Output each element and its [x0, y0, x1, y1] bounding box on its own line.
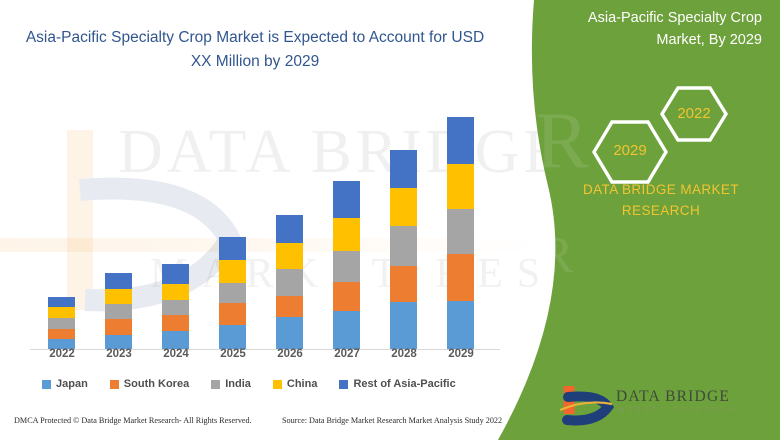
segment-china-2025[interactable] — [219, 260, 246, 283]
x-label-2029: 2029 — [441, 348, 481, 360]
green-side-panel: BR SR Asia-Pacific Specialty Crop Market… — [490, 0, 780, 440]
footer-source: Source: Data Bridge Market Research Mark… — [282, 416, 502, 425]
segment-rest-of-asia-pacific-2023[interactable] — [105, 273, 132, 289]
panel-brand-line-2: RESEARCH — [546, 201, 776, 222]
segment-south-korea-2028[interactable] — [390, 266, 417, 302]
legend-label: South Korea — [124, 378, 189, 390]
segment-south-korea-2023[interactable] — [105, 319, 132, 335]
segment-china-2024[interactable] — [162, 284, 189, 300]
page-title: Asia-Pacific Specialty Crop Market is Ex… — [20, 26, 490, 74]
segment-china-2023[interactable] — [105, 289, 132, 304]
chart-x-axis-labels: 20222023202420252026202720282029 — [20, 348, 500, 368]
bar-2029[interactable] — [447, 117, 474, 349]
segment-south-korea-2024[interactable] — [162, 315, 189, 331]
segment-india-2026[interactable] — [276, 269, 303, 296]
segment-south-korea-2025[interactable] — [219, 303, 246, 325]
segment-india-2024[interactable] — [162, 300, 189, 315]
stacked-bar-chart — [20, 95, 500, 350]
hexagon-label-2022: 2022 — [664, 105, 724, 122]
x-label-2025: 2025 — [213, 348, 253, 360]
data-bridge-mark-icon — [556, 383, 616, 427]
legend-swatch-icon — [211, 380, 220, 389]
footer: DMCA Protected © Data Bridge Market Rese… — [0, 416, 520, 436]
segment-rest-of-asia-pacific-2022[interactable] — [48, 297, 75, 307]
chart-legend: JapanSouth KoreaIndiaChinaRest of Asia-P… — [42, 375, 512, 393]
legend-swatch-icon — [42, 380, 51, 389]
infographic-page: DATA BRIDGE MARKET RESEARCH Asia-Pacific… — [0, 0, 780, 440]
data-bridge-logo: DATA BRIDGE MARKET RESEARCH — [556, 383, 746, 427]
bar-2023[interactable] — [105, 273, 132, 349]
legend-swatch-icon — [273, 380, 282, 389]
segment-japan-2027[interactable] — [333, 311, 360, 349]
legend-item-india[interactable]: India — [211, 378, 251, 390]
bar-2024[interactable] — [162, 264, 189, 349]
segment-india-2028[interactable] — [390, 226, 417, 266]
legend-item-japan[interactable]: Japan — [42, 378, 88, 390]
segment-japan-2024[interactable] — [162, 331, 189, 349]
segment-rest-of-asia-pacific-2027[interactable] — [333, 181, 360, 218]
segment-rest-of-asia-pacific-2024[interactable] — [162, 264, 189, 284]
x-label-2024: 2024 — [156, 348, 196, 360]
legend-label: India — [225, 378, 251, 390]
legend-label: Japan — [56, 378, 88, 390]
segment-india-2023[interactable] — [105, 304, 132, 319]
panel-brand: DATA BRIDGE MARKET RESEARCH — [546, 180, 776, 222]
segment-japan-2023[interactable] — [105, 335, 132, 349]
x-label-2022: 2022 — [42, 348, 82, 360]
segment-japan-2026[interactable] — [276, 317, 303, 349]
panel-watermark-2: SR — [494, 226, 780, 285]
segment-india-2029[interactable] — [447, 209, 474, 254]
segment-south-korea-2026[interactable] — [276, 296, 303, 317]
segment-rest-of-asia-pacific-2028[interactable] — [390, 150, 417, 188]
panel-brand-line-1: DATA BRIDGE MARKET — [546, 180, 776, 201]
segment-china-2026[interactable] — [276, 243, 303, 269]
segment-india-2022[interactable] — [48, 318, 75, 329]
logo-subtitle: MARKET RESEARCH — [618, 406, 737, 414]
x-label-2028: 2028 — [384, 348, 424, 360]
legend-item-rest-of-asia-pacific[interactable]: Rest of Asia-Pacific — [339, 378, 455, 390]
bar-2022[interactable] — [48, 297, 75, 349]
x-label-2027: 2027 — [327, 348, 367, 360]
logo-wordmark: DATA BRIDGE — [616, 388, 730, 406]
bar-2028[interactable] — [390, 150, 417, 349]
segment-rest-of-asia-pacific-2026[interactable] — [276, 215, 303, 243]
segment-japan-2025[interactable] — [219, 325, 246, 349]
segment-south-korea-2022[interactable] — [48, 329, 75, 339]
segment-china-2027[interactable] — [333, 218, 360, 251]
segment-japan-2028[interactable] — [390, 302, 417, 349]
segment-china-2022[interactable] — [48, 307, 75, 318]
legend-swatch-icon — [339, 380, 348, 389]
hexagon-outlines-icon — [570, 84, 760, 184]
segment-south-korea-2029[interactable] — [447, 254, 474, 301]
segment-india-2025[interactable] — [219, 283, 246, 303]
segment-rest-of-asia-pacific-2029[interactable] — [447, 117, 474, 164]
footer-copyright: DMCA Protected © Data Bridge Market Rese… — [14, 416, 252, 425]
segment-south-korea-2027[interactable] — [333, 282, 360, 311]
legend-label: China — [287, 378, 318, 390]
bar-2025[interactable] — [219, 237, 246, 349]
segment-rest-of-asia-pacific-2025[interactable] — [219, 237, 246, 260]
legend-item-china[interactable]: China — [273, 378, 318, 390]
x-label-2026: 2026 — [270, 348, 310, 360]
bar-2027[interactable] — [333, 181, 360, 349]
legend-label: Rest of Asia-Pacific — [353, 378, 455, 390]
segment-japan-2029[interactable] — [447, 301, 474, 349]
segment-india-2027[interactable] — [333, 251, 360, 282]
segment-china-2028[interactable] — [390, 188, 417, 226]
x-label-2023: 2023 — [99, 348, 139, 360]
hexagon-label-2029: 2029 — [600, 142, 660, 159]
bar-2026[interactable] — [276, 215, 303, 349]
panel-heading: Asia-Pacific Specialty Crop Market, By 2… — [550, 8, 762, 52]
legend-swatch-icon — [110, 380, 119, 389]
legend-item-south-korea[interactable]: South Korea — [110, 378, 189, 390]
segment-china-2029[interactable] — [447, 164, 474, 209]
hexagon-group: 2022 2029 — [570, 84, 760, 184]
